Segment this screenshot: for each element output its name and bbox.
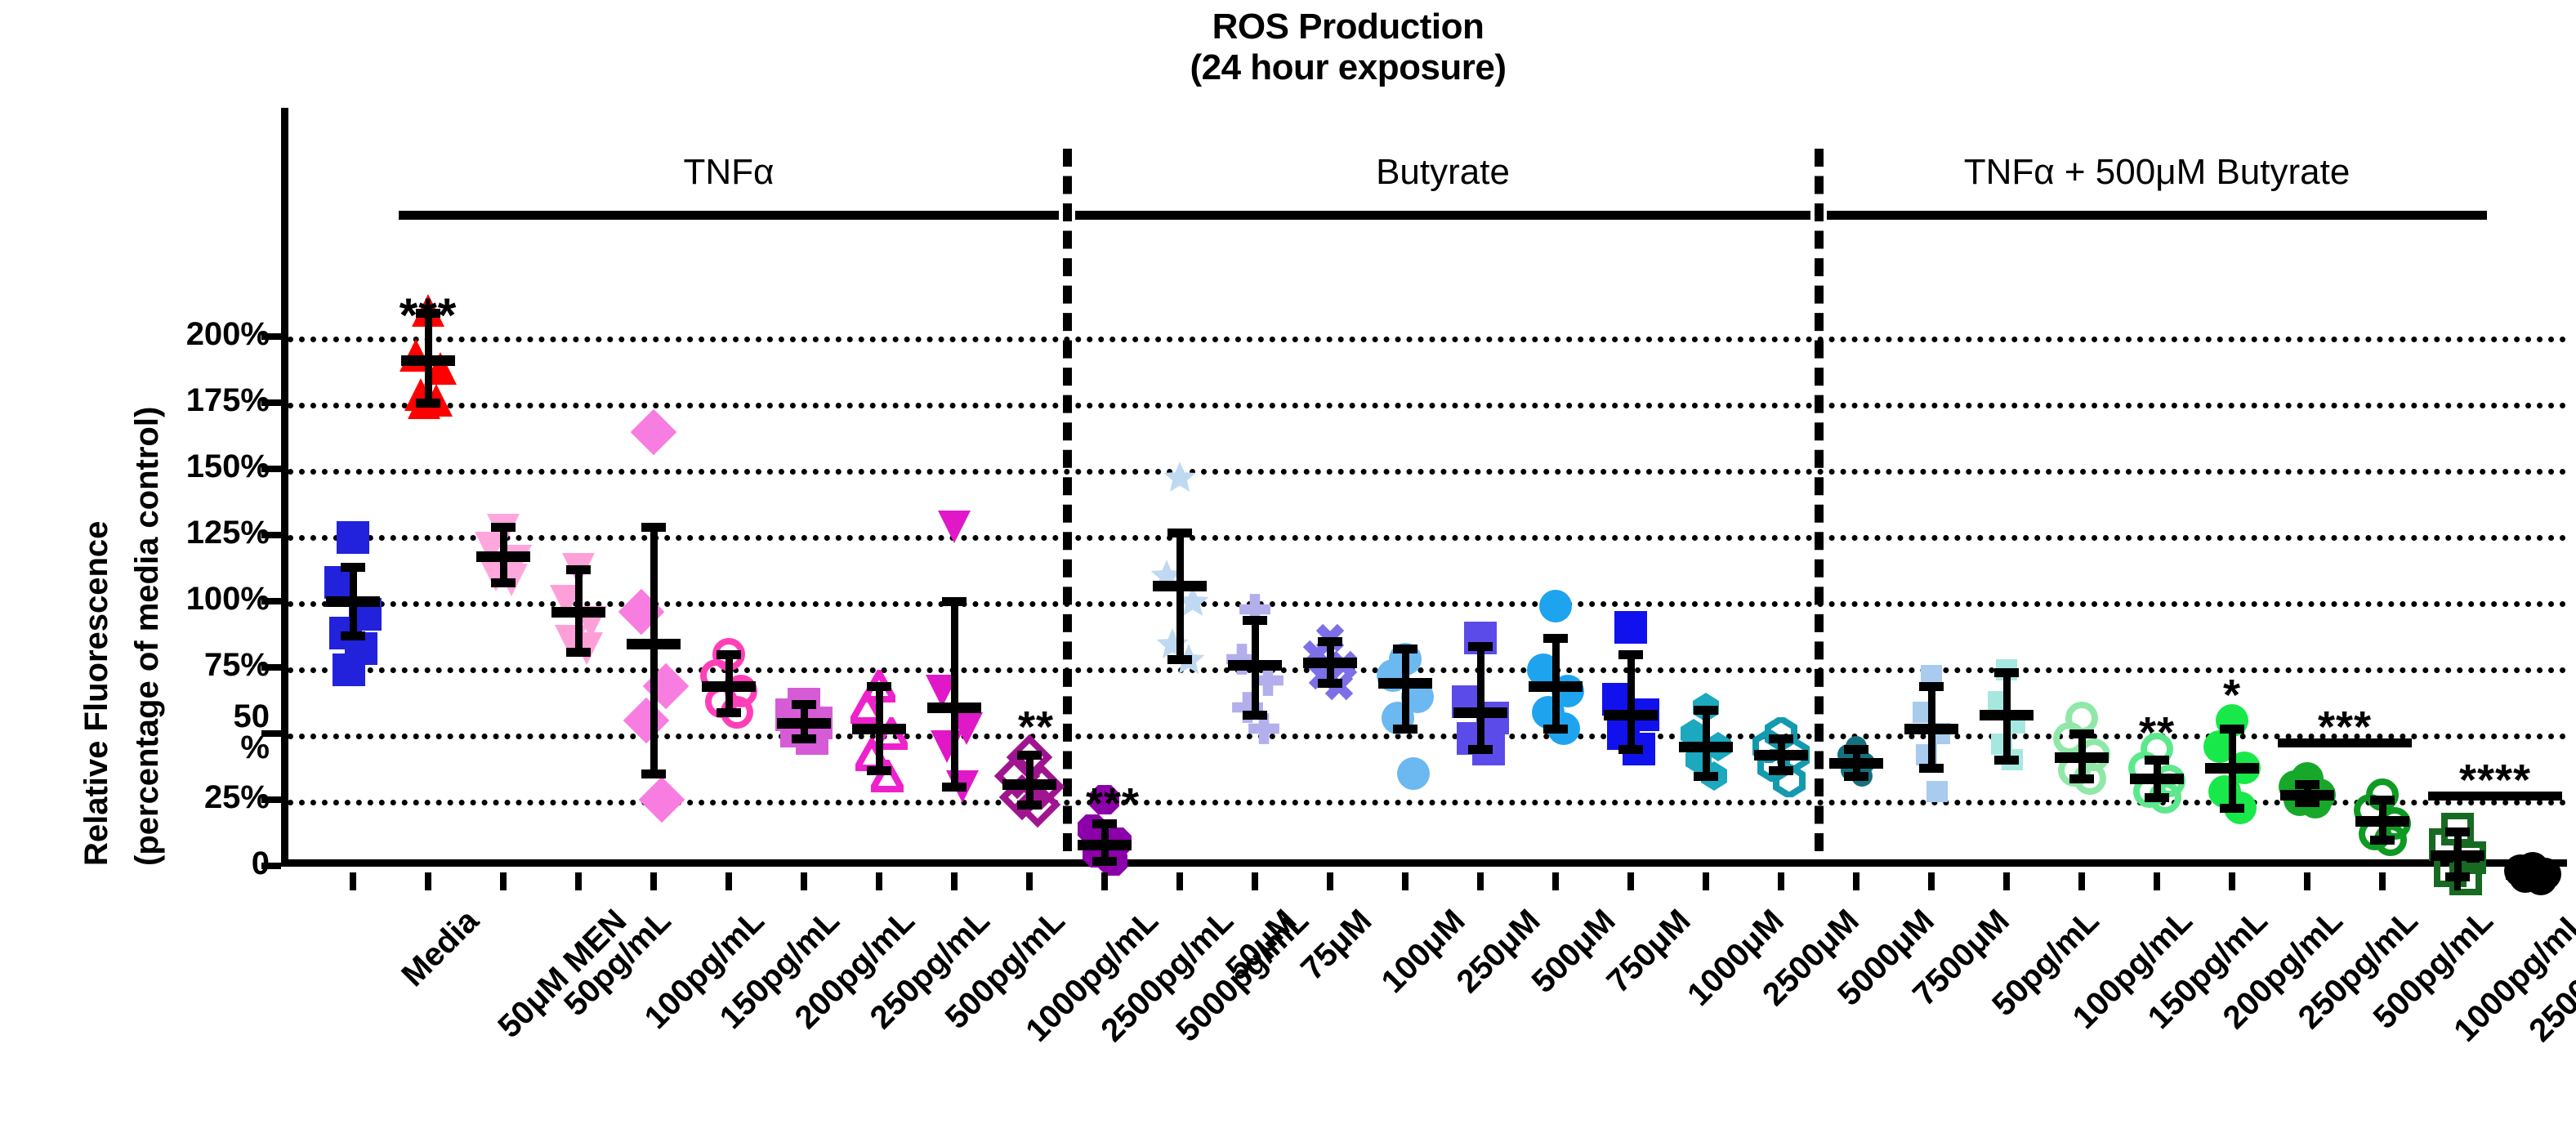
y-tick-label: 75%: [155, 649, 270, 680]
significance-bracket: [2278, 738, 2412, 747]
error-bar-cap-bottom: [1543, 725, 1568, 734]
x-tickmark: [1552, 872, 1559, 890]
error-bar-cap-bottom: [641, 769, 666, 778]
error-bar-cap-top: [491, 523, 516, 532]
error-bar-cap-top: [1543, 634, 1568, 643]
mean-marker: [1980, 710, 2034, 720]
data-point: [1539, 590, 1572, 622]
data-point: [1926, 781, 1948, 802]
error-bar-line: [1627, 654, 1635, 750]
error-bar-cap-bottom: [2145, 793, 2169, 802]
x-tickmark: [1703, 872, 1709, 890]
y-tickmark: [261, 796, 281, 803]
error-bar-cap-top: [641, 523, 666, 532]
chart-title-block: ROS Production (24 hour exposure): [1054, 7, 1642, 88]
significance-stars: **: [2139, 707, 2175, 758]
x-tickmark: [2304, 872, 2310, 890]
y-axis-label-line1: Relative Fluorescence: [78, 521, 115, 866]
data-point: [337, 521, 369, 554]
mean-marker: [627, 639, 681, 649]
error-bar-cap-top: [867, 682, 891, 691]
x-tickmark: [951, 872, 958, 890]
error-bar-line: [1477, 646, 1484, 749]
mean-marker: [1002, 779, 1056, 790]
y-tickmark: [261, 532, 281, 538]
error-bar-line: [650, 527, 658, 773]
y-tickmark: [261, 598, 281, 604]
error-bar-cap-bottom: [717, 708, 741, 717]
group-separator: [1063, 149, 1081, 851]
y-tickmark: [261, 466, 281, 472]
error-bar-cap-bottom: [491, 578, 516, 587]
error-bar-cap-top: [1468, 642, 1493, 651]
x-tickmark: [725, 872, 732, 890]
error-bar-cap-top: [1618, 650, 1643, 659]
mean-marker: [1303, 658, 1357, 668]
x-tickmark: [1101, 872, 1108, 890]
x-tickmark: [1026, 872, 1033, 890]
error-bar-cap-top: [1243, 616, 1267, 625]
error-bar-cap-bottom: [1844, 772, 1868, 781]
y-tick-label: 150%: [155, 451, 270, 482]
x-tickmark: [2078, 872, 2085, 890]
error-bar-cap-top: [2445, 827, 2470, 836]
error-bar-cap-bottom: [341, 631, 365, 640]
group-label: Butyrate: [1075, 152, 1810, 193]
error-bar-cap-bottom: [566, 648, 591, 657]
error-bar-cap-bottom: [1919, 764, 1944, 773]
mean-marker: [551, 607, 605, 618]
error-bar-cap-top: [942, 597, 967, 606]
error-bar-cap-top: [1844, 745, 1868, 754]
chart-subtitle: (24 hour exposure): [1054, 47, 1642, 88]
x-tickmark: [1778, 872, 1784, 890]
data-point: [931, 730, 963, 763]
data-point: [938, 511, 971, 543]
x-tickmark: [2529, 872, 2536, 890]
group-label: TNFα + 500μM Butyrate: [1827, 152, 2487, 193]
x-tickmark: [1252, 872, 1258, 890]
error-bar-cap-top: [1318, 637, 1342, 646]
mean-marker: [2280, 790, 2334, 801]
y-tickmark: [261, 333, 281, 340]
y-tick-label: 25%: [155, 782, 270, 813]
chart-title: ROS Production: [1054, 7, 1642, 47]
mean-marker: [1754, 750, 1808, 761]
error-bar-cap-top: [1694, 706, 1718, 715]
x-tickmark: [2229, 872, 2235, 890]
mean-marker: [1378, 678, 1432, 689]
data-point: [631, 408, 677, 455]
error-bar-cap-top: [566, 565, 591, 574]
group-underline: [399, 211, 1059, 220]
y-tick-label: 175%: [155, 385, 270, 416]
mean-marker: [1078, 840, 1132, 850]
error-bar-cap-top: [1769, 734, 1793, 743]
x-tickmark: [500, 872, 507, 890]
mean-marker: [401, 355, 455, 366]
error-bar-cap-bottom: [2069, 774, 2094, 783]
x-tickmark: [350, 872, 356, 890]
mean-marker: [927, 703, 981, 713]
x-tickmark: [1853, 872, 1859, 890]
chart-canvas: ROS Production (24 hour exposure) Relati…: [0, 0, 2576, 1133]
significance-bracket: [2428, 792, 2562, 801]
mean-marker: [1228, 660, 1282, 671]
x-tickmark: [876, 872, 882, 890]
mean-marker: [2431, 850, 2484, 861]
y-tick-label: 50%: [155, 701, 270, 763]
y-tickmark: [261, 863, 281, 869]
error-bar-cap-top: [2069, 729, 2094, 738]
x-tick-label: 75μM: [1294, 903, 1379, 988]
mean-marker: [777, 718, 831, 729]
mean-marker: [2130, 774, 2184, 784]
mean-marker: [1829, 758, 1883, 769]
error-bar-cap-top: [1994, 668, 2019, 677]
gridline: [288, 469, 2567, 475]
x-tick-label: Media: [395, 903, 486, 994]
error-bar-cap-top: [2295, 780, 2319, 789]
error-bar-cap-bottom: [1318, 679, 1342, 688]
error-bar-cap-bottom: [867, 766, 891, 775]
group-underline: [1827, 211, 2487, 220]
group-underline: [1075, 211, 1810, 220]
gridline: [288, 337, 2567, 342]
significance-stars: ***: [400, 288, 458, 343]
error-bar-cap-top: [341, 563, 365, 572]
x-tickmark: [1176, 872, 1183, 890]
mean-marker: [702, 681, 756, 692]
x-tickmark: [1327, 872, 1333, 890]
y-tickmark: [261, 399, 281, 406]
mean-marker: [476, 551, 530, 562]
x-tickmark: [801, 872, 807, 890]
gridline: [288, 403, 2567, 408]
error-bar-cap-bottom: [2220, 804, 2244, 813]
data-point: [1163, 460, 1197, 494]
error-bar-cap-bottom: [1468, 745, 1493, 754]
error-bar-cap-top: [792, 700, 816, 709]
x-tickmark: [2454, 872, 2461, 890]
mean-marker: [1679, 742, 1733, 752]
x-tickmark: [1402, 872, 1409, 890]
mean-marker: [852, 724, 906, 734]
error-bar-line: [951, 601, 958, 787]
x-tickmark: [650, 872, 657, 890]
mean-marker: [1453, 707, 1507, 718]
data-point: [639, 777, 685, 823]
error-bar-cap-bottom: [1769, 766, 1793, 775]
x-tick-label: 500μM: [1525, 903, 1623, 1001]
error-bar-cap-top: [1167, 529, 1192, 538]
error-bar-cap-bottom: [1694, 772, 1718, 781]
x-tickmark: [425, 872, 431, 890]
error-bar-line: [1176, 533, 1184, 660]
error-bar-cap-bottom: [2370, 836, 2395, 845]
mean-marker: [2205, 763, 2259, 774]
error-bar-cap-bottom: [416, 399, 440, 408]
error-bar-cap-bottom: [1243, 711, 1267, 720]
x-tick-label: 100μM: [1374, 903, 1472, 1001]
error-bar-cap-top: [1919, 682, 1944, 691]
error-bar-cap-bottom: [1994, 756, 2019, 765]
mean-marker: [2055, 752, 2109, 763]
y-axis-line: [281, 108, 288, 866]
x-axis-line: [281, 859, 2567, 867]
x-tickmark: [2154, 872, 2160, 890]
error-bar-cap-bottom: [1618, 745, 1643, 754]
error-bar-cap-top: [1393, 645, 1417, 653]
mean-marker: [1529, 681, 1583, 692]
error-bar-cap-bottom: [792, 734, 816, 743]
significance-stars: *: [2223, 670, 2241, 720]
gridline: [288, 535, 2567, 541]
x-tickmark: [2379, 872, 2386, 890]
error-bar-cap-bottom: [1092, 857, 1117, 866]
significance-stars: **: [1018, 702, 1054, 752]
y-tickmark: [261, 664, 281, 671]
significance-stars: ***: [1086, 778, 1140, 829]
y-tick-label: 125%: [155, 517, 270, 548]
x-tickmark: [2003, 872, 2010, 890]
y-tick-label: 0: [155, 848, 270, 879]
x-tickmark: [1477, 872, 1484, 890]
x-tickmark: [1627, 872, 1634, 890]
data-point: [1397, 757, 1430, 790]
data-point: [333, 653, 365, 686]
error-bar-cap-bottom: [1017, 801, 1042, 810]
y-tickmark: [261, 730, 281, 737]
plot-area: ******************: [288, 221, 2567, 866]
error-bar-cap-top: [717, 650, 741, 659]
data-point: [1614, 611, 1647, 644]
x-tick-label: 250μM: [1449, 903, 1547, 1001]
group-label: TNFα: [399, 152, 1059, 193]
mean-marker: [1904, 724, 1958, 734]
x-tickmark: [1928, 872, 1935, 890]
group-separator: [1815, 149, 1833, 851]
y-tick-label: 100%: [155, 583, 270, 614]
error-bar-cap-bottom: [1393, 725, 1417, 734]
mean-marker: [1604, 710, 1658, 720]
mean-marker: [2355, 816, 2409, 827]
x-tickmark: [575, 872, 582, 890]
error-bar-cap-top: [2220, 725, 2244, 734]
y-tick-label: 200%: [155, 319, 270, 350]
mean-marker: [326, 596, 380, 607]
error-bar-cap-bottom: [942, 783, 967, 792]
mean-marker: [1153, 581, 1207, 591]
error-bar-cap-top: [2370, 796, 2395, 805]
error-bar-cap-bottom: [1167, 655, 1192, 664]
